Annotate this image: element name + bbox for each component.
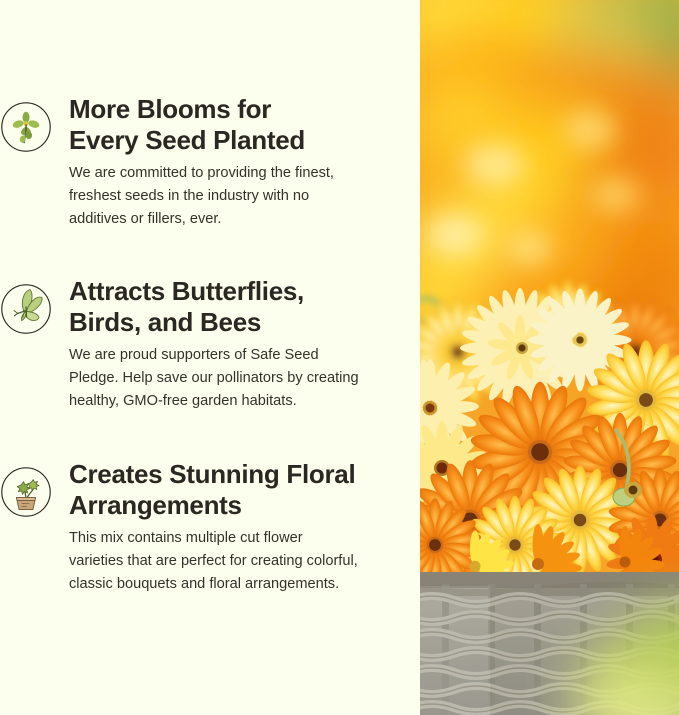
feature-description: We are committed to providing the finest… — [69, 162, 414, 231]
feature-item: More Blooms for Every Seed Planted We ar… — [0, 94, 420, 231]
butterfly-icon — [0, 282, 53, 336]
feature-title: Creates Stunning Floral Arrangements — [69, 459, 414, 521]
feature-item: Attracts Butterflies, Birds, and Bees We… — [0, 276, 420, 413]
feature-text: Attracts Butterflies, Birds, and Bees We… — [69, 276, 414, 413]
flower-sprout-icon — [0, 100, 53, 154]
feature-item: Creates Stunning Floral Arrangements Thi… — [0, 459, 420, 596]
flower-basket-photo — [420, 0, 679, 715]
feature-text: More Blooms for Every Seed Planted We ar… — [69, 94, 414, 231]
features-panel: More Blooms for Every Seed Planted We ar… — [0, 0, 420, 715]
feature-title: More Blooms for Every Seed Planted — [69, 94, 414, 156]
feature-description: This mix contains multiple cut flower va… — [69, 527, 414, 596]
product-feature-panel: More Blooms for Every Seed Planted We ar… — [0, 0, 679, 715]
feature-description: We are proud supporters of Safe Seed Ple… — [69, 344, 414, 413]
feature-text: Creates Stunning Floral Arrangements Thi… — [69, 459, 414, 596]
potted-plant-icon — [0, 465, 53, 519]
feature-title: Attracts Butterflies, Birds, and Bees — [69, 276, 414, 338]
